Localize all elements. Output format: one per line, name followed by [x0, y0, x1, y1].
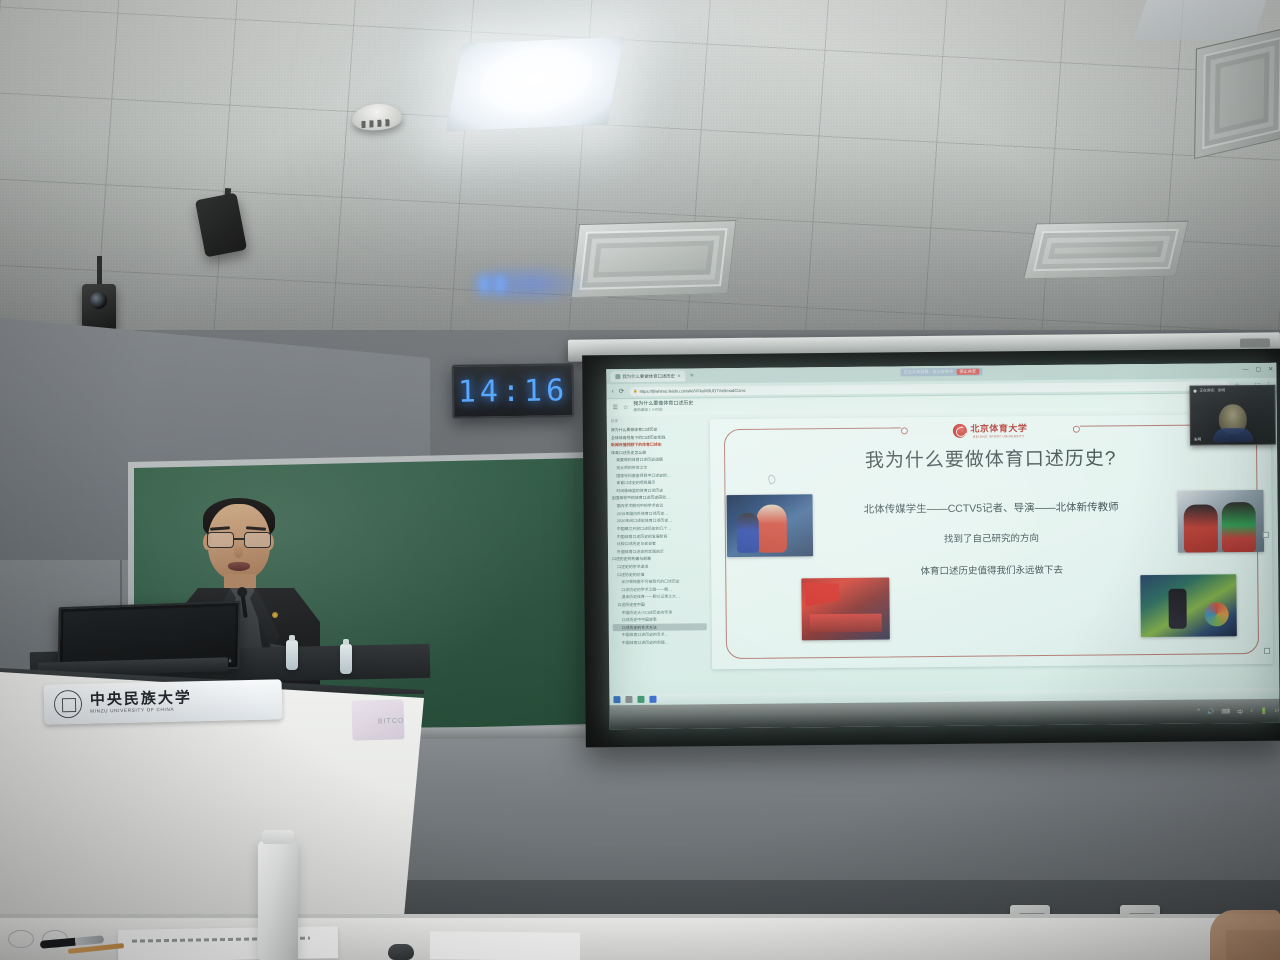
- taskbar-icon-meeting[interactable]: [637, 696, 644, 703]
- water-bottle-right: [340, 644, 352, 674]
- projector-stray-light: ▮▮: [470, 262, 590, 306]
- close-icon[interactable]: ✕: [1268, 366, 1273, 373]
- tray-volume-icon[interactable]: 🔊: [1207, 708, 1215, 715]
- ceiling-camera: [82, 284, 116, 332]
- presenter-nose: [234, 546, 243, 558]
- window-controls[interactable]: — ▢ ✕: [1243, 366, 1274, 373]
- slide-photo-ceremony: [801, 578, 890, 641]
- screen-share-notification: 正在共享屏幕 · 会议录制中 停止共享: [901, 368, 983, 377]
- video-tile-name-label: 张明: [1194, 438, 1201, 443]
- meeting-video-tile[interactable]: 正在讲话: 张明 张明: [1189, 385, 1276, 446]
- logo-mark-icon: [953, 423, 967, 437]
- browser-window: 我为什么要做体育口述历史 ✕ + 正在共享屏幕 · 会议录制中 停止共享 — ▢…: [606, 363, 1279, 705]
- housing-end-cap: [1240, 338, 1270, 347]
- browser-tab[interactable]: 我为什么要做体育口述历史 ✕: [610, 370, 686, 382]
- logo-name-cn: 北京体育大学: [970, 423, 1027, 434]
- logo-name-en: BEIJING SPORT UNIVERSITY: [970, 434, 1027, 439]
- outline-header: 目录: [611, 418, 705, 424]
- tab-title: 我为什么要做体育口述历史: [622, 373, 675, 380]
- back-icon[interactable]: ‹: [611, 388, 613, 395]
- air-diffuser-vent: [571, 220, 737, 298]
- presentation-slide: 北京体育大学 BEIJING SPORT UNIVERSITY 我为什么要做体育…: [710, 414, 1273, 669]
- outline-sidebar[interactable]: 目录 我为什么要做体育口述历史全球体育视角下的口述历史实践新闻传播视野下的体育口…: [607, 415, 711, 692]
- venue-name-en: MINZU UNIVERSITY OF CHINA: [90, 706, 192, 713]
- tab-close-icon[interactable]: ✕: [677, 373, 681, 379]
- ceiling-shading: [0, 0, 1280, 352]
- clock-time: 14:16: [458, 373, 569, 410]
- lock-icon: 🔒: [633, 389, 638, 393]
- presenter-lapel-pin: [272, 612, 278, 618]
- notification-text: 正在共享屏幕 · 会议录制中: [904, 369, 954, 375]
- lectern-nameplate: 中央民族大学 MINZU UNIVERSITY OF CHINA: [44, 679, 283, 724]
- water-bottle-left: [286, 640, 298, 670]
- ceiling: [0, 0, 1280, 352]
- video-tile-header: 正在讲话: 张明: [1190, 386, 1274, 396]
- presenter-mouth: [228, 562, 250, 571]
- tray-sound-icon[interactable]: ♪: [1250, 708, 1253, 714]
- system-tray[interactable]: ^ 🔊 ⌨ 中 ♪ 🔋 14:16: [1197, 706, 1280, 716]
- tab-favicon: [615, 374, 620, 379]
- foreground-paper-left: [118, 926, 339, 960]
- video-tile-top-label: 正在讲话:: [1200, 388, 1215, 393]
- slide-title: 我为什么要做体育口述历史?: [710, 442, 1271, 474]
- taskbar-clock[interactable]: 14:16: [1275, 708, 1280, 713]
- ceiling-panel-light: [446, 37, 624, 132]
- lectern-brand-label: BITCO: [378, 718, 405, 726]
- maximize-icon[interactable]: ▢: [1256, 366, 1262, 373]
- stop-share-button[interactable]: 停止共享: [956, 369, 979, 375]
- mic-icon: [1194, 390, 1197, 393]
- slide-photo-studio: [1140, 574, 1237, 637]
- presenter-glasses: [207, 532, 271, 547]
- outline-toggle-icon[interactable]: ☰: [613, 404, 618, 411]
- resize-handle-corner[interactable]: [1264, 648, 1270, 654]
- tray-keyboard-icon[interactable]: ⌨: [1221, 708, 1230, 715]
- venue-name-cn: 中央民族大学: [90, 691, 192, 708]
- reload-icon[interactable]: ⟳: [619, 387, 625, 395]
- air-diffuser-vent-right: [1194, 27, 1280, 159]
- minimize-icon[interactable]: —: [1243, 367, 1249, 373]
- digital-wall-clock: 14:16: [452, 363, 575, 419]
- taskbar-icon-explorer[interactable]: [625, 696, 632, 703]
- favorite-star-icon[interactable]: ☆: [623, 404, 628, 411]
- video-tile-speaker-name: 张明: [1218, 388, 1225, 393]
- lecture-hall-photo: ▮▮ 我为什么要做体育口述历史 ✕ +: [0, 0, 1280, 960]
- air-diffuser-vent-far: [1023, 221, 1189, 280]
- projection-screen: 我为什么要做体育口述历史 ✕ + 正在共享屏幕 · 会议录制中 停止共享 — ▢…: [606, 363, 1279, 729]
- outline-item[interactable]: 中国体育口述历史的实践…: [613, 638, 707, 647]
- url-text: https://fjlwhlmo.feishu.cn/wiki/VFksM9UO…: [640, 387, 746, 393]
- camera-lens-icon: [90, 292, 107, 309]
- slide-canvas[interactable]: 北京体育大学 BEIJING SPORT UNIVERSITY 我为什么要做体育…: [708, 410, 1280, 691]
- new-tab-icon[interactable]: +: [690, 372, 694, 379]
- tray-chevron-icon[interactable]: ^: [1197, 709, 1200, 715]
- resize-handle-right[interactable]: [1263, 532, 1269, 538]
- foreground-person-hand: [1210, 910, 1280, 960]
- document-body: 目录 我为什么要做体育口述历史全球体育视角下的口述历史实践新闻传播视野下的体育口…: [607, 410, 1280, 692]
- document-subtitle: 最后编辑 1 小时前: [633, 407, 693, 413]
- taskbar-icon-start[interactable]: [613, 696, 620, 703]
- outline-list[interactable]: 我为什么要做体育口述历史全球体育视角下的口述历史实践新闻传播视野下的体育口述史体…: [611, 425, 707, 647]
- tray-ime-icon[interactable]: 中: [1237, 707, 1243, 716]
- ceiling-panel-light-secondary: [1134, 0, 1267, 40]
- foreground-presenter-remote: [388, 944, 414, 960]
- university-seal-icon: [54, 690, 83, 719]
- tray-battery-icon[interactable]: 🔋: [1260, 707, 1268, 714]
- video-participant-body: [1213, 428, 1253, 442]
- foreground-thermos: [258, 840, 298, 960]
- foreground-paper-right: [430, 931, 580, 960]
- taskbar-icon-browser[interactable]: [649, 696, 656, 703]
